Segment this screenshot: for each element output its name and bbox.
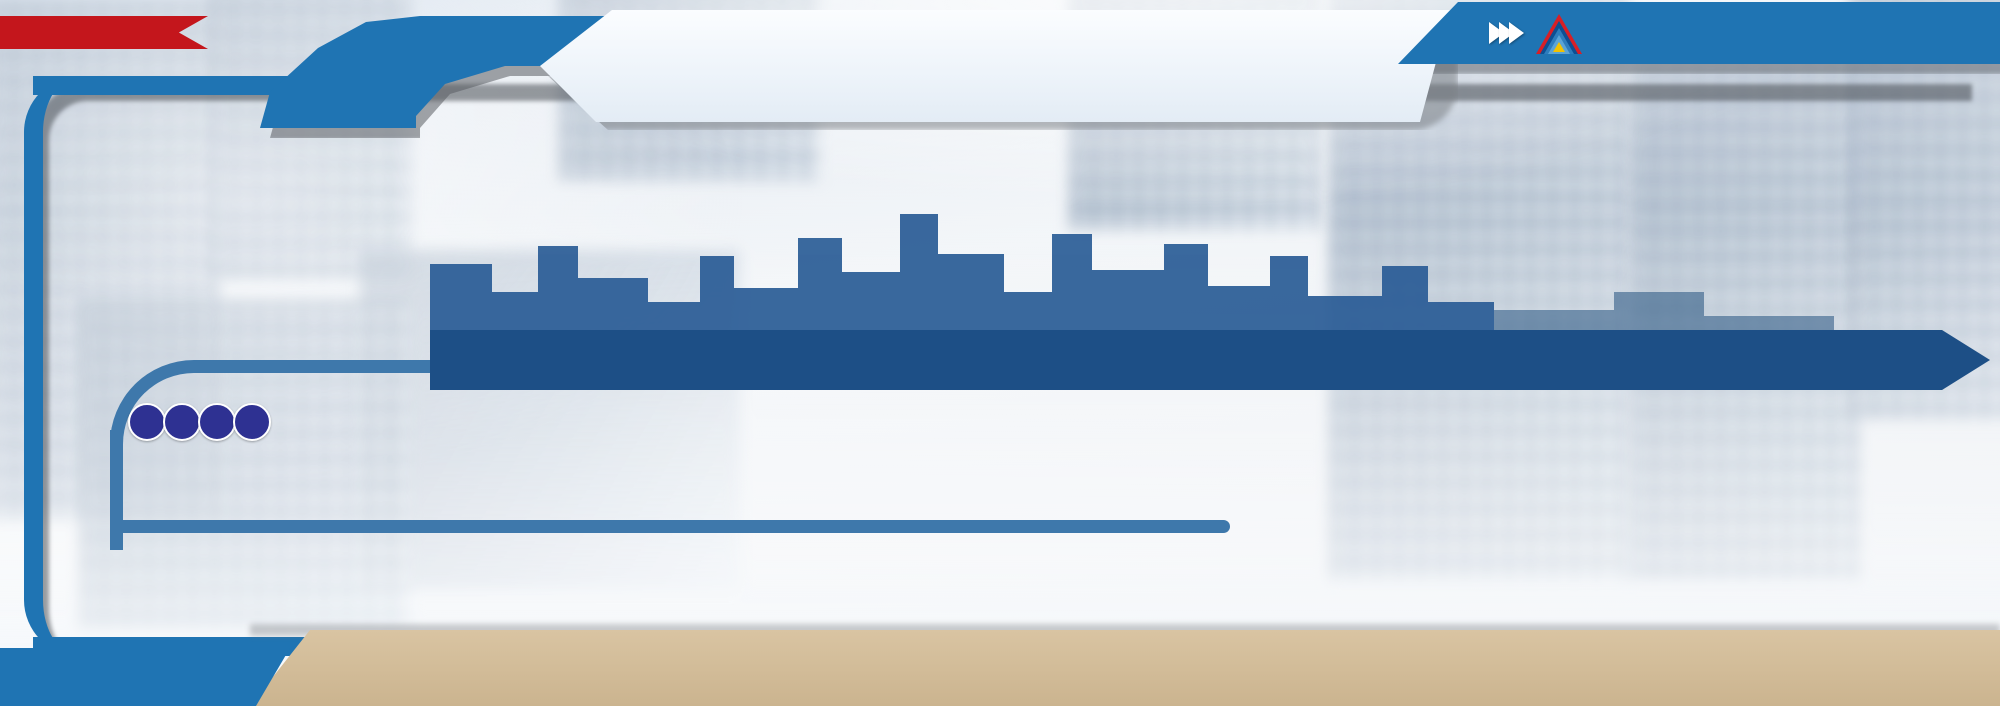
badge-circle-group [128, 403, 268, 441]
enterprise-development-badge [128, 403, 268, 441]
triangle-logo-icon [1536, 12, 1582, 54]
double-chevron-right-icon [1494, 22, 1524, 44]
badge-track-bottom [110, 520, 1230, 533]
badge-circle-2 [163, 403, 201, 441]
logo-band [1398, 2, 2000, 64]
headline-panel [540, 10, 1450, 122]
badge-circle-1 [128, 403, 166, 441]
section-ribbon [0, 16, 208, 49]
badge-circle-3 [198, 403, 236, 441]
footer-band [250, 630, 2000, 706]
timeline-bar [430, 330, 1990, 390]
infographic-canvas [0, 0, 2000, 706]
badge-track-left [110, 430, 123, 533]
footer-blue-wedge [0, 648, 290, 706]
badge-circle-4 [233, 403, 271, 441]
